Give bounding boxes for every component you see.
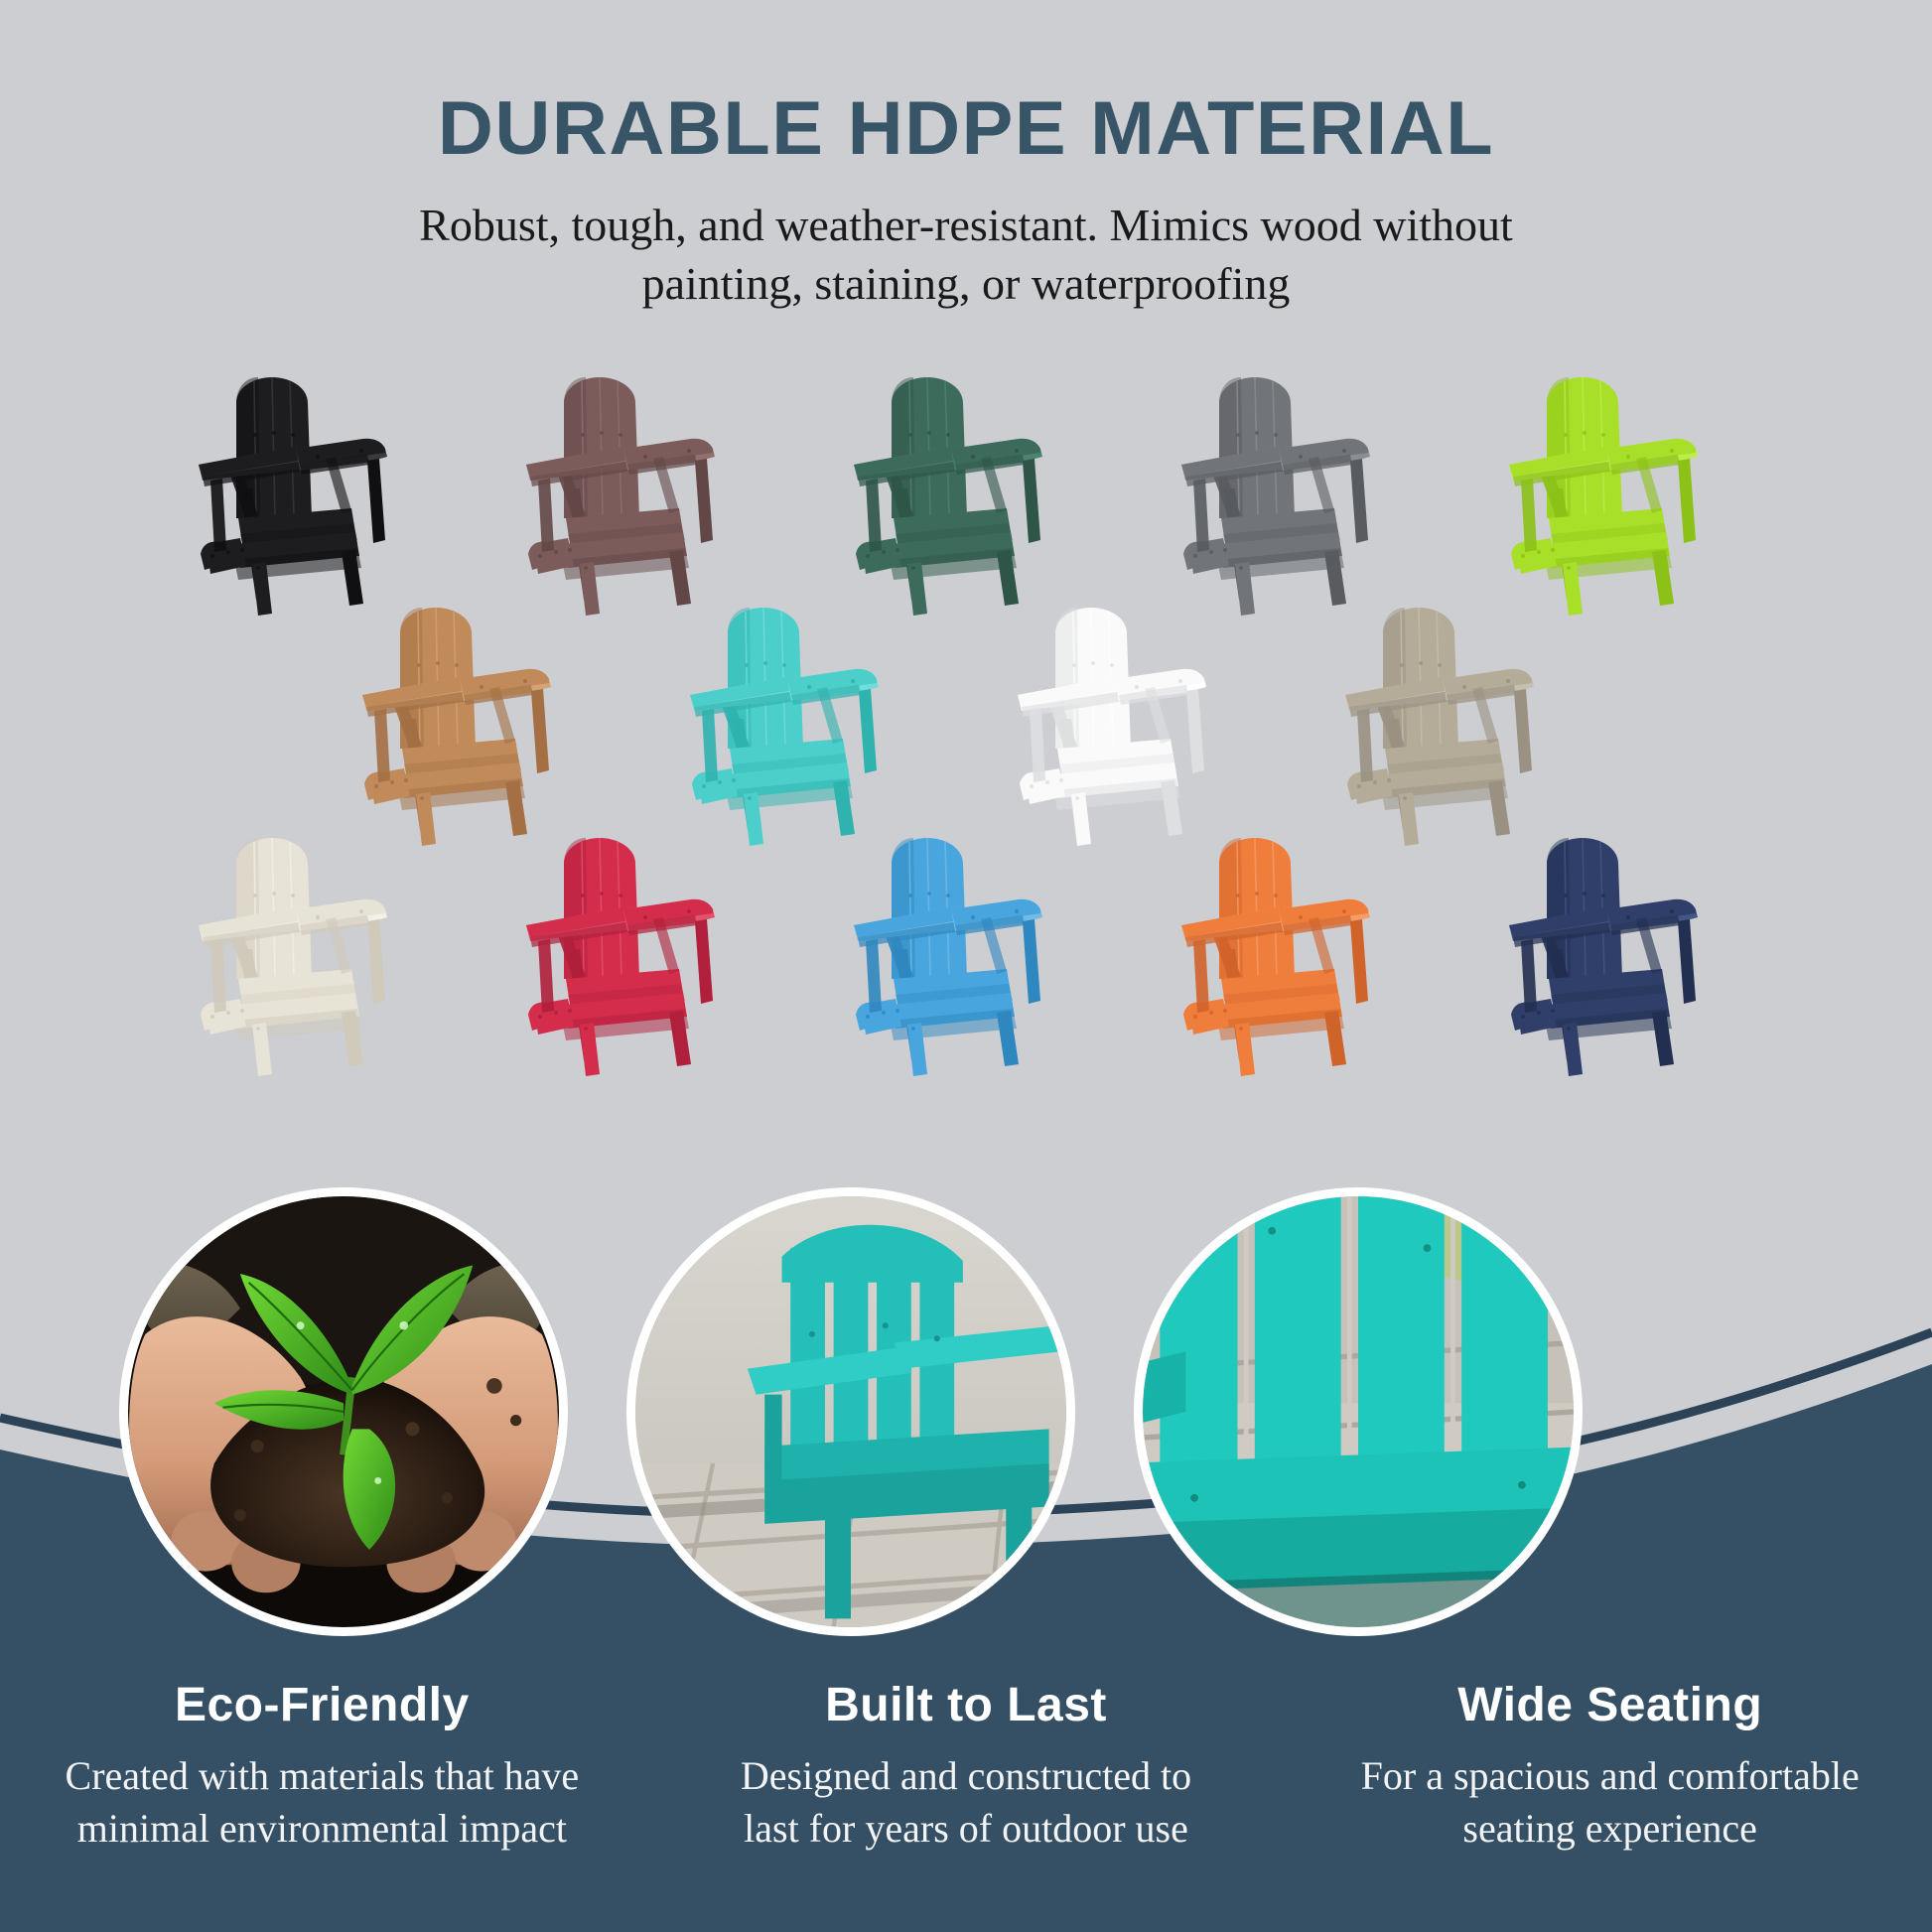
feature-heading: Wide Seating [1313, 1678, 1906, 1732]
subtitle-line-1: Robust, tough, and weather-resistant. Mi… [306, 197, 1626, 255]
chair-illustration [832, 830, 1100, 1078]
header: DURABLE HDPE MATERIAL Robust, tough, and… [0, 0, 1932, 314]
feature-list: Eco-FriendlyCreated with materials that … [0, 1678, 1932, 1856]
feature-3: Wide SeatingFor a spacious and comfortab… [1288, 1678, 1932, 1856]
chair-swatch-dark-green[interactable] [832, 369, 1100, 618]
chair-illustration [341, 600, 609, 848]
chair-illustration [177, 369, 445, 618]
chair-row-3 [0, 830, 1932, 1078]
feature-description-line-2: seating experience [1313, 1803, 1906, 1856]
chair-swatch-brown[interactable] [504, 369, 772, 618]
chair-swatch-light-blue[interactable] [832, 830, 1100, 1078]
chair-row-2 [0, 600, 1932, 848]
chair-swatch-camel[interactable] [341, 600, 609, 848]
turquoise-chair-seat-closeup-icon [1143, 1196, 1574, 1627]
chair-swatch-lime-green[interactable] [1487, 369, 1755, 618]
chair-swatch-black[interactable] [177, 369, 445, 618]
feature-1: Eco-FriendlyCreated with materials that … [0, 1678, 644, 1856]
feature-description: Designed and constructed tolast for year… [670, 1750, 1263, 1856]
chair-illustration [1487, 830, 1755, 1078]
built-to-last-photo-circle [626, 1187, 1075, 1636]
chair-row-1 [0, 369, 1932, 618]
chair-illustration [832, 369, 1100, 618]
chair-illustration [668, 600, 936, 848]
chair-illustration [504, 369, 772, 618]
feature-heading: Built to Last [670, 1678, 1263, 1732]
feature-description-line-1: For a spacious and comfortable [1313, 1750, 1906, 1803]
seedling-in-hands-icon [128, 1196, 559, 1627]
feature-2: Built to LastDesigned and constructed to… [644, 1678, 1289, 1856]
chair-swatch-ivory[interactable] [177, 830, 445, 1078]
feature-heading: Eco-Friendly [26, 1678, 619, 1732]
infographic-root: DURABLE HDPE MATERIAL Robust, tough, and… [0, 0, 1932, 1932]
chair-swatch-gray[interactable] [1160, 369, 1428, 618]
chair-swatch-red[interactable] [504, 830, 772, 1078]
eco-friendly-photo-circle [119, 1187, 568, 1636]
feature-description-line-2: minimal environmental impact [26, 1803, 619, 1856]
chair-illustration [996, 600, 1264, 848]
turquoise-chair-on-patio-icon [635, 1196, 1066, 1627]
feature-description-line-1: Designed and constructed to [670, 1750, 1263, 1803]
page-title: DURABLE HDPE MATERIAL [0, 0, 1932, 167]
chair-illustration [1487, 369, 1755, 618]
chair-illustration [1323, 600, 1591, 848]
chair-illustration [1160, 830, 1428, 1078]
feature-photo-circles [0, 1187, 1932, 1644]
chair-color-grid [0, 369, 1932, 1078]
chair-illustration [177, 830, 445, 1078]
chair-swatch-navy-blue[interactable] [1487, 830, 1755, 1078]
page-subtitle: Robust, tough, and weather-resistant. Mi… [306, 167, 1626, 314]
chair-swatch-taupe[interactable] [1323, 600, 1591, 848]
chair-swatch-orange[interactable] [1160, 830, 1428, 1078]
chair-illustration [504, 830, 772, 1078]
feature-description: Created with materials that haveminimal … [26, 1750, 619, 1856]
wide-seating-photo-circle [1134, 1187, 1583, 1636]
feature-description: For a spacious and comfortableseating ex… [1313, 1750, 1906, 1856]
chair-swatch-white[interactable] [996, 600, 1264, 848]
feature-description-line-1: Created with materials that have [26, 1750, 619, 1803]
subtitle-line-2: painting, staining, or waterproofing [306, 255, 1626, 314]
chair-swatch-turquoise[interactable] [668, 600, 936, 848]
chair-illustration [1160, 369, 1428, 618]
feature-description-line-2: last for years of outdoor use [670, 1803, 1263, 1856]
